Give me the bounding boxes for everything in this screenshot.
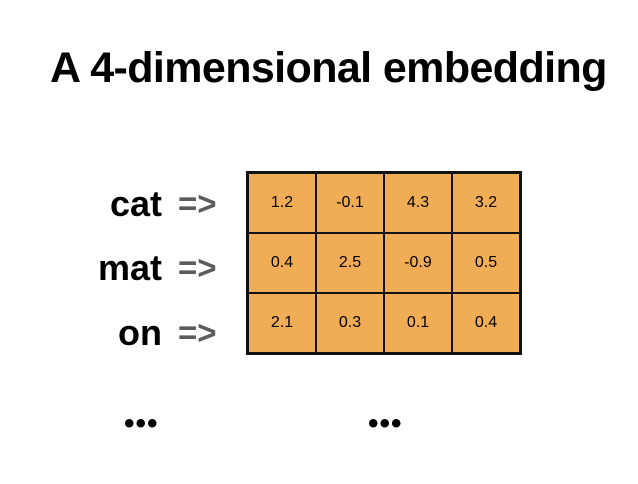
- table-row: 2.1 0.3 0.1 0.4: [248, 293, 521, 354]
- matrix-cell: 4.3: [384, 173, 452, 234]
- matrix-cell: 1.2: [248, 173, 317, 234]
- arrow-right-icon: =>: [178, 249, 236, 287]
- matrix-cell: 0.5: [452, 233, 521, 293]
- matrix-cell: 0.3: [316, 293, 384, 354]
- table-row: 0.4 2.5 -0.9 0.5: [248, 233, 521, 293]
- arrow-right-icon: =>: [178, 185, 236, 223]
- ellipsis-words: •••: [124, 409, 159, 439]
- embedding-matrix: 1.2 -0.1 4.3 3.2 0.4 2.5 -0.9 0.5 2.1 0.…: [246, 171, 522, 355]
- matrix-cell: 0.4: [248, 233, 317, 293]
- word-label-on: on: [118, 314, 162, 352]
- ellipsis-matrix: •••: [368, 409, 403, 439]
- matrix-cell: 0.1: [384, 293, 452, 354]
- matrix-cell: -0.9: [384, 233, 452, 293]
- matrix-cell: 2.1: [248, 293, 317, 354]
- arrow-right-icon: =>: [178, 314, 236, 352]
- word-row: cat =>: [0, 172, 236, 236]
- page-title: A 4-dimensional embedding: [50, 43, 606, 93]
- matrix-cell: 2.5: [316, 233, 384, 293]
- word-row: mat =>: [0, 236, 236, 300]
- matrix-cell: 3.2: [452, 173, 521, 234]
- word-label-mat: mat: [98, 249, 162, 287]
- matrix-cell: 0.4: [452, 293, 521, 354]
- matrix-cell: -0.1: [316, 173, 384, 234]
- slide-canvas: A 4-dimensional embedding cat => mat => …: [0, 0, 638, 484]
- word-row: on =>: [0, 301, 236, 365]
- word-label-cat: cat: [110, 185, 162, 223]
- table-row: 1.2 -0.1 4.3 3.2: [248, 173, 521, 234]
